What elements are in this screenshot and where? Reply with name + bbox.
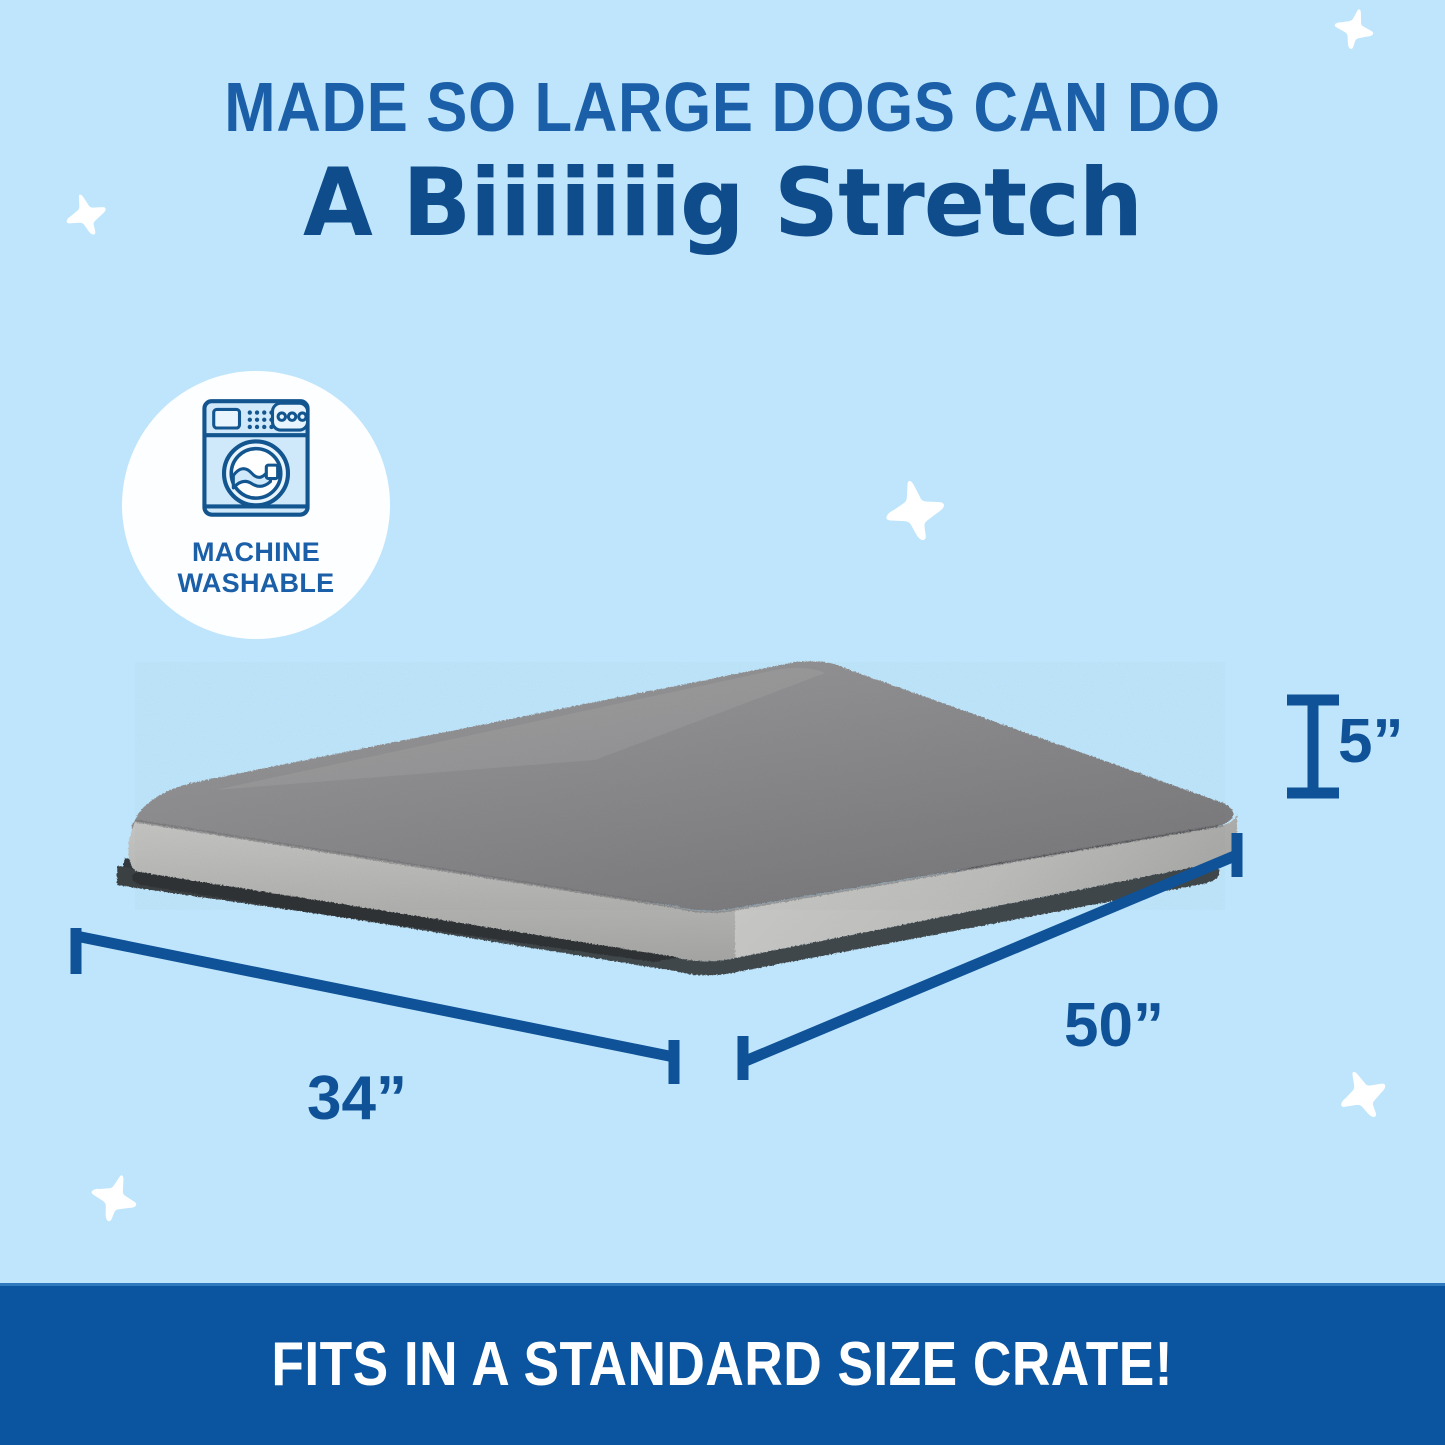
product-marketing-poster: MADE SO LARGE DOGS CAN DO A Biiiiiiig St… — [0, 0, 1445, 1445]
star-top-right — [1326, 1, 1381, 56]
dimension-label-length: 50” — [1064, 990, 1164, 1061]
dimension-label-width: 34” — [307, 1063, 407, 1134]
banner-text: FITS IN A STANDARD SIZE CRATE! — [272, 1329, 1174, 1400]
headline-subline: MADE SO LARGE DOGS CAN DO — [87, 72, 1359, 143]
star-bottom-right — [1328, 1060, 1397, 1129]
star-center — [878, 474, 953, 549]
machine-washable-label: MACHINE WASHABLE — [178, 537, 335, 599]
machine-washable-label-line2: WASHABLE — [178, 568, 335, 599]
bottom-banner: FITS IN A STANDARD SIZE CRATE! — [0, 1283, 1445, 1445]
star-bottom-left — [80, 1164, 148, 1232]
machine-washable-label-line1: MACHINE — [178, 537, 335, 568]
headline-main: A Biiiiiiig Stretch — [29, 157, 1416, 251]
dimension-label-height: 5” — [1338, 706, 1403, 777]
headline-block: MADE SO LARGE DOGS CAN DO A Biiiiiiig St… — [0, 72, 1445, 251]
machine-washable-badge: MACHINE WASHABLE — [122, 371, 390, 639]
washing-machine-icon — [194, 395, 318, 527]
